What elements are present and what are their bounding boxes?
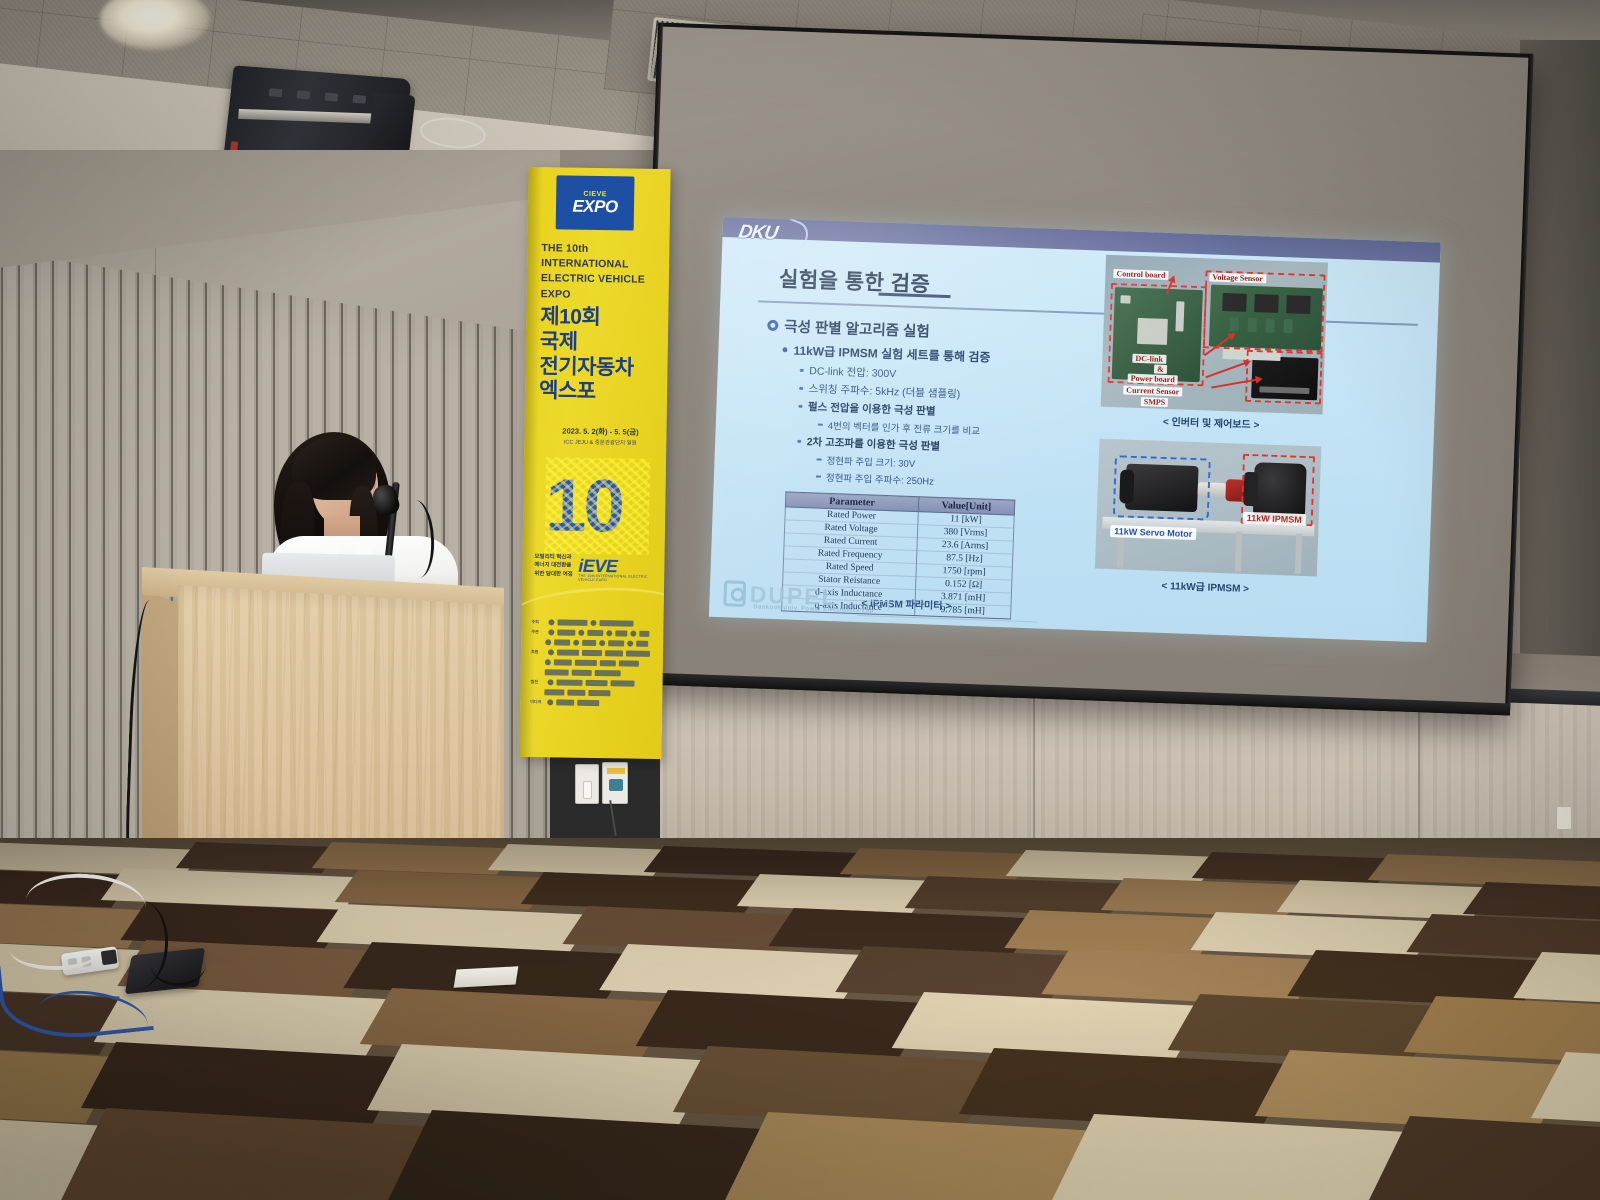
ipmsm-bench-photo: 11kW Servo Motor 11kW IPMSM (1095, 439, 1322, 577)
slide-header-bar (722, 217, 1440, 263)
bullet-dash-icon (818, 424, 823, 426)
presentation-slide: 12 DKU 실험을 통한 검증 극성 판별 알고리즘 실험 1 (709, 217, 1441, 642)
bullet-dot-icon (782, 347, 787, 352)
dku-logo-text: DKU (737, 222, 779, 244)
banner-en-line3: ELECTRIC VEHICLE (541, 272, 665, 289)
photo-top-caption: < 인버터 및 제어보드 > (1100, 411, 1322, 434)
light-switch-plate[interactable] (575, 764, 599, 804)
photo-bottom-caption: < 11kW급 IPMSM > (1094, 575, 1316, 598)
bullet-subdot-icon (797, 440, 801, 444)
slide-bullet-list: 극성 판별 알고리즘 실험 11kW급 IPMSM 실험 세트를 통해 검증 D… (762, 315, 1098, 497)
carpet-floor (0, 838, 1600, 1200)
label-smps: SMPS (1141, 397, 1169, 407)
sponsor-label-organizer: 주관 (531, 629, 545, 635)
bullet-dclink-text: DC-link 전압: 300V (809, 363, 896, 381)
slide-page-number: 12 (1372, 224, 1383, 234)
bullet-pulse-sub-text: 4번의 벡터를 인가 후 전류 크기를 비교 (828, 418, 981, 437)
bullet-harmonic-text: 2차 고조파를 이용한 극성 판별 (806, 434, 940, 454)
event-banner: CIEVE EXPO THE 10th INTERNATIONAL ELECTR… (519, 167, 670, 759)
bullet-subdot-icon (799, 387, 803, 391)
banner-en-line4: EXPO (541, 287, 665, 304)
wall-far-right (1520, 40, 1600, 740)
banner-ko-line2: 국제 (540, 330, 664, 357)
bullet-dash-icon (817, 459, 822, 461)
banner-slogan: 모빌리티 혁신과 에너지 대전환을 위한 담대한 여정 (534, 553, 576, 578)
ieve-tagline: THE 10th INTERNATIONAL ELECTRIC VEHICLE … (578, 574, 664, 583)
bullet-dash-icon (816, 476, 821, 478)
conference-room-photo: 12 DKU 실험을 통한 검증 극성 판별 알고리즘 실험 1 (0, 0, 1600, 1200)
bullet-subdot-icon (800, 369, 804, 373)
bullet-switching-text: 스위칭 주파수: 5kHz (더블 샘플링) (808, 381, 960, 401)
banner-english-title: THE 10th INTERNATIONAL ELECTRIC VEHICLE … (541, 241, 666, 304)
sponsor-label-media: 미디어 (530, 699, 544, 705)
power-outlet-plate[interactable] (602, 762, 628, 804)
dupel-mark-icon (723, 580, 746, 607)
bullet-harmonic-sub2-text: 정현파 주입 주파수: 250Hz (826, 470, 934, 488)
sponsor-label-support: 후원 (531, 649, 545, 655)
bullet-ring-icon (767, 320, 778, 331)
label-current-sensor: Current Sensor (1123, 385, 1182, 396)
black-cable-floor (150, 940, 206, 986)
sponsor-label-partner: 협찬 (531, 679, 545, 685)
banner-date: 2023. 5. 2(화) - 5. 5(금) (536, 425, 664, 438)
banner-ko-line4: 엑스포 (539, 379, 663, 406)
bullet-pulse-text: 펄스 전압을 이용한 극성 판별 (808, 399, 936, 419)
bullet-level2-text: 11kW급 IPMSM 실험 세트를 통해 검증 (793, 342, 991, 366)
bullet-subdot-icon (798, 405, 802, 409)
right-wall-outlet[interactable] (1556, 806, 1572, 830)
label-ipmsm: 11kW IPMSM (1243, 512, 1306, 526)
paper-on-floor (454, 966, 519, 987)
sponsor-label-host: 주최 (531, 619, 545, 625)
logo-signal-step (867, 600, 889, 610)
label-power-board: Power board (1128, 374, 1178, 385)
inverter-control-board-photo: Control board Voltage Sensor DC-link & P… (1101, 255, 1328, 415)
label-amp: & (1154, 365, 1167, 374)
label-control-board: Control board (1113, 269, 1168, 280)
bullet-harmonic-sub1-text: 정현파 주입 크기: 30V (826, 453, 915, 470)
servo-motor-highlight (1113, 455, 1211, 520)
label-dclink: DC-link (1132, 354, 1166, 364)
projection-screen: 12 DKU 실험을 통한 검증 극성 판별 알고리즘 실험 1 (634, 23, 1533, 716)
badge-expo-text: EXPO (572, 198, 618, 216)
screen-surface: 12 DKU 실험을 통한 검증 극성 판별 알고리즘 실험 1 (639, 27, 1530, 706)
ieve-expo-badge: CIEVE EXPO (556, 175, 635, 230)
banner-korean-title: 제10회 국제 전기자동차 엑스포 (539, 305, 665, 406)
sponsor-logo-grid: 주최 주관 후원 협찬 미디어 (529, 619, 655, 751)
banner-ko-line1: 제10회 (540, 305, 664, 332)
banner-ko-line3: 전기자동차 (539, 355, 663, 382)
anniversary-graphic: 10 (545, 457, 650, 555)
bullet-level1-text: 극성 판별 알고리즘 실험 (784, 315, 930, 341)
banner-venue: ICC JEJU & 중문관광단지 일원 (536, 437, 664, 447)
outlet-cable (609, 800, 617, 836)
dku-logo: DKU (737, 222, 805, 248)
